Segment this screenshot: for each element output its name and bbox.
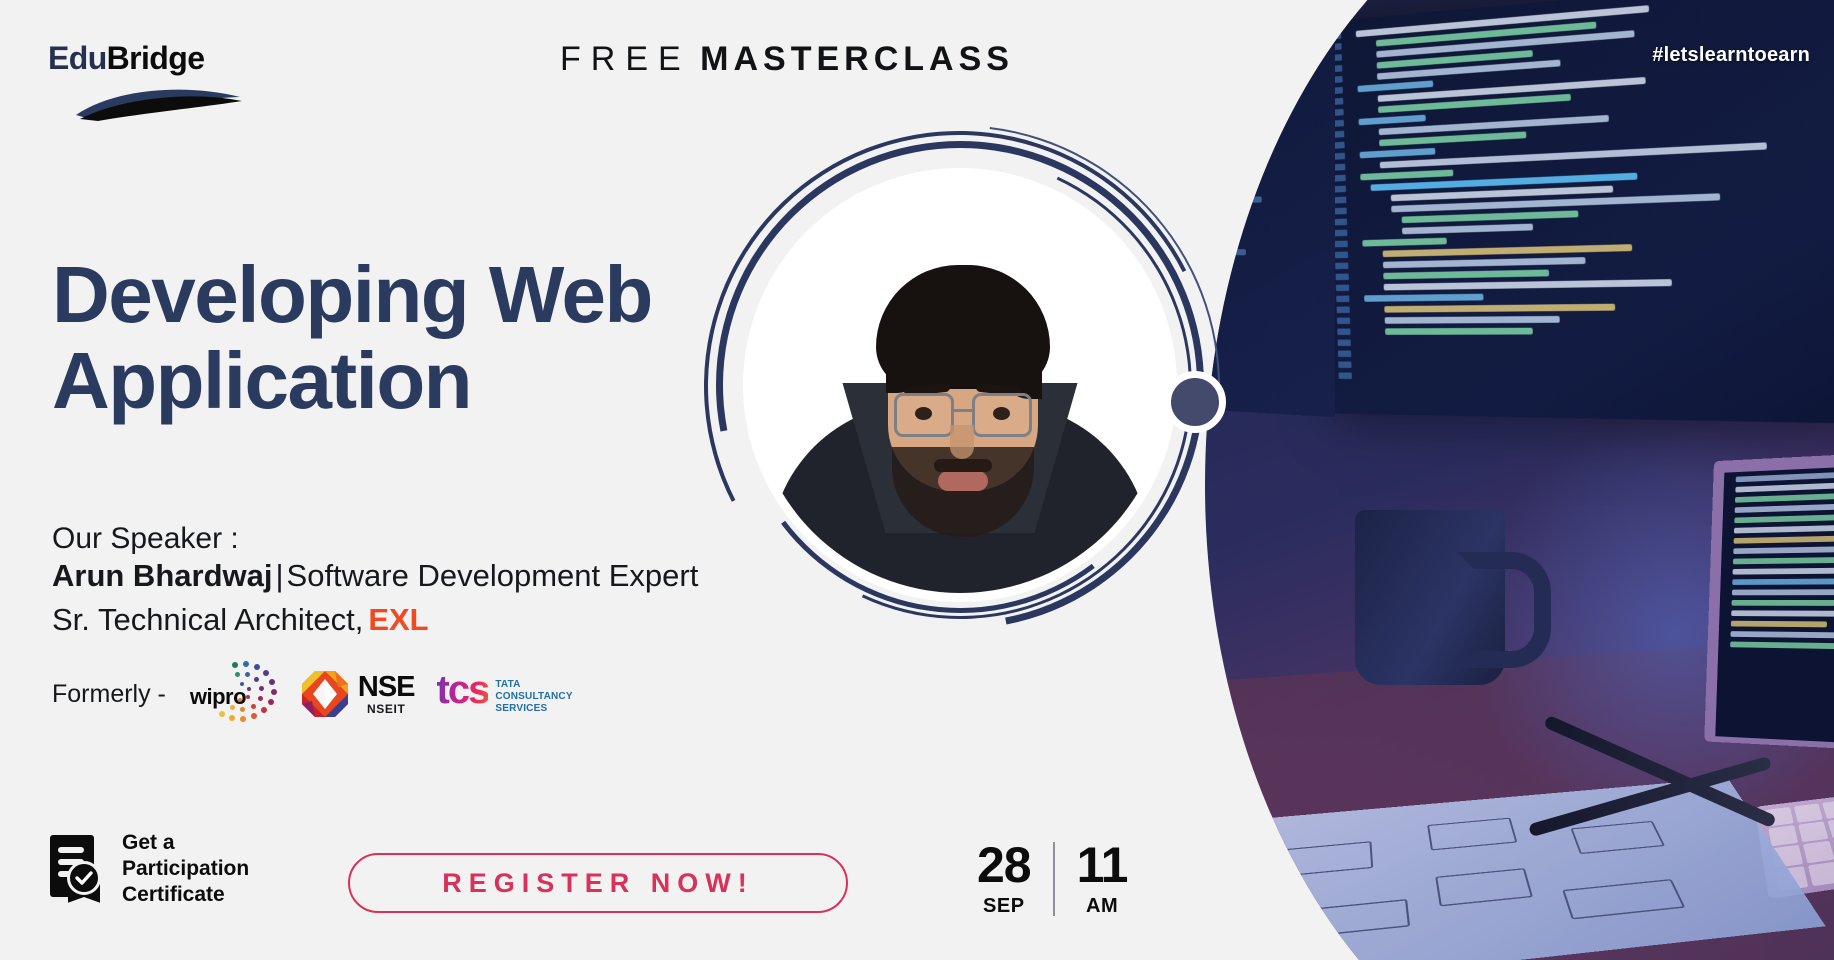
tcs-subtext: TATA CONSULTANCY SERVICES [495, 673, 572, 716]
workspace-photo [1205, 0, 1834, 960]
coffee-mug [1355, 510, 1505, 685]
decor-dot-accent [1164, 371, 1226, 433]
speaker-label: Our Speaker : [52, 522, 239, 556]
participation-certificate-badge: Get a Participation Certificate [50, 830, 249, 907]
nse-text-group: NSE NSEIT [358, 673, 415, 716]
speaker-photo-frame [700, 125, 1220, 645]
certificate-line-3: Certificate [122, 882, 249, 908]
speaker-company: EXL [363, 602, 428, 637]
tcs-wordmark: tcs [437, 673, 489, 707]
kicker-masterclass: MASTERCLASS [700, 40, 1014, 78]
tcs-sub-line2: CONSULTANCY [495, 691, 572, 703]
speaker-name: Arun Bhardwaj [52, 558, 272, 593]
speaker-photo [752, 177, 1168, 593]
speaker-separator: | [272, 558, 286, 593]
kicker-free-masterclass: FREE MASTERCLASS [560, 40, 1014, 79]
hashtag-text: #letslearntoearn [1652, 44, 1810, 67]
tcs-logo: tcs TATA CONSULTANCY SERVICES [437, 673, 573, 716]
tcs-sub-line1: TATA [495, 679, 572, 691]
nse-wordmark: NSE [358, 673, 415, 702]
certificate-line-2: Participation [122, 856, 249, 882]
file-explorer-panel [1205, 43, 1335, 417]
formerly-label: Formerly - [52, 680, 166, 709]
masterclass-banner: #letslearntoearn [0, 0, 1834, 960]
wipro-wordmark: wipro [190, 684, 246, 710]
event-hour: 11 [1077, 840, 1128, 890]
tcs-sub-line3: SERVICES [495, 703, 572, 715]
title-line-2: Application [52, 338, 652, 424]
speaker-portrait [752, 177, 1168, 593]
page-title: Developing Web Application [52, 252, 652, 423]
event-time: 11 AM [1055, 840, 1150, 918]
logo-swoosh-icon [74, 81, 244, 121]
speaker-designation-line: Sr. Technical Architect,EXL [52, 602, 429, 638]
event-schedule: 28 SEP 11 AM [955, 840, 1149, 918]
event-month: SEP [983, 895, 1025, 918]
certificate-text: Get a Participation Certificate [122, 830, 249, 907]
edubridge-logo[interactable]: EduBridge [48, 40, 248, 121]
wipro-logo: wipro [188, 660, 278, 728]
logo-bridge-text: Bridge [107, 40, 205, 76]
speaker-name-role: Arun Bhardwaj|Software Development Exper… [52, 558, 698, 594]
nse-gem-icon [300, 669, 350, 719]
laptop-screen [1704, 441, 1834, 762]
event-date: 28 SEP [955, 840, 1053, 918]
logo-wordmark: EduBridge [48, 40, 248, 77]
former-companies-row: Formerly - wipro [52, 660, 573, 728]
event-day: 28 [977, 840, 1031, 890]
title-line-1: Developing Web [52, 252, 652, 338]
speaker-designation: Sr. Technical Architect, [52, 602, 363, 637]
nseit-subtext: NSEIT [358, 702, 415, 716]
speaker-role: Software Development Expert [287, 558, 699, 593]
kicker-free: FREE [560, 40, 691, 78]
certificate-icon [50, 835, 108, 903]
certificate-line-1: Get a [122, 830, 249, 856]
register-now-button[interactable]: REGISTER NOW! [348, 853, 848, 913]
nse-logo: NSE NSEIT [300, 669, 415, 719]
logo-edu-text: Edu [48, 40, 107, 76]
event-meridiem: AM [1086, 895, 1118, 918]
background-photo-panel [1205, 0, 1834, 960]
